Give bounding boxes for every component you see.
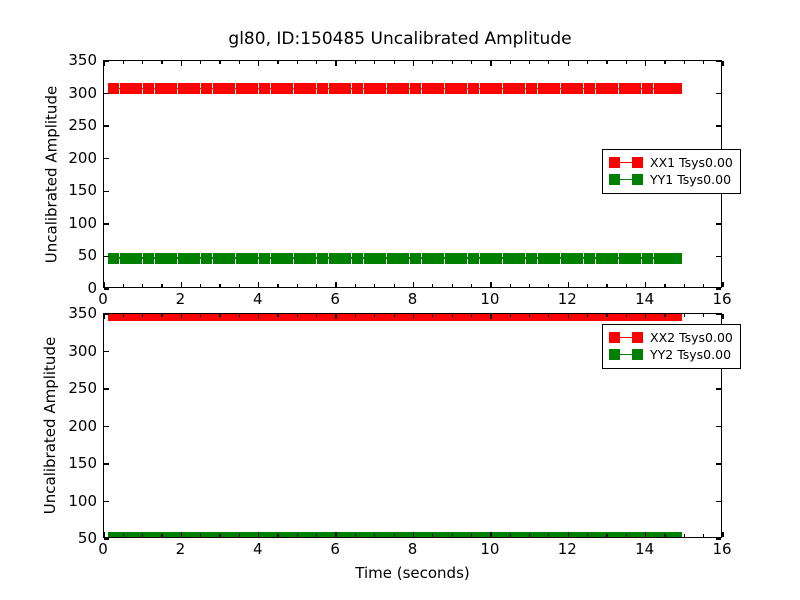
x-tick-mark [413, 61, 414, 66]
x-minor-tick-mark [510, 534, 511, 537]
x-tick-mark [181, 314, 182, 319]
x-minor-tick-mark [703, 314, 704, 317]
series-marker [503, 253, 514, 264]
y-tick-mark [716, 256, 721, 257]
x-minor-tick-mark [316, 284, 317, 287]
series-marker [526, 253, 537, 264]
series-marker [491, 253, 502, 264]
x-tick-label: 2 [160, 292, 200, 307]
x-minor-tick-mark [219, 61, 220, 64]
series-marker [561, 253, 572, 264]
x-minor-tick-mark [355, 314, 356, 317]
y-tick-mark [104, 223, 109, 224]
x-minor-tick-mark [548, 61, 549, 64]
x-minor-tick-mark [355, 284, 356, 287]
x-minor-tick-mark [529, 314, 530, 317]
x-minor-tick-mark [374, 284, 375, 287]
series-marker [445, 83, 456, 94]
y-tick-mark [104, 388, 109, 389]
y-tick-mark [104, 426, 109, 427]
x-tick-mark [413, 282, 414, 287]
x-tick-mark [490, 314, 491, 319]
x-tick-mark [490, 61, 491, 66]
series-marker [642, 83, 653, 94]
series-marker [201, 253, 212, 264]
series-marker [108, 83, 119, 94]
series-marker [410, 253, 421, 264]
series-marker [375, 253, 386, 264]
series-marker [433, 83, 444, 94]
x-tick-label: 12 [547, 542, 587, 557]
series-marker [329, 253, 340, 264]
x-minor-tick-mark [142, 284, 143, 287]
x-minor-tick-mark [548, 314, 549, 317]
y-tick-mark [716, 501, 721, 502]
series-marker [166, 83, 177, 94]
x-minor-tick-mark [316, 534, 317, 537]
x-tick-mark [181, 532, 182, 537]
x-tick-label: 12 [547, 292, 587, 307]
x-minor-tick-mark [452, 314, 453, 317]
x-minor-tick-mark [297, 284, 298, 287]
y-tick-mark [716, 223, 721, 224]
x-minor-tick-mark [239, 314, 240, 317]
x-minor-tick-mark [529, 61, 530, 64]
series-marker [671, 83, 682, 94]
series-marker [596, 83, 607, 94]
x-minor-tick-mark [123, 314, 124, 317]
x-minor-tick-mark [142, 61, 143, 64]
x-minor-tick-mark [297, 61, 298, 64]
series-marker [619, 253, 630, 264]
x-minor-tick-mark [510, 314, 511, 317]
y-tick-mark [716, 125, 721, 126]
x-minor-tick-mark [606, 284, 607, 287]
y-tick-mark [104, 60, 109, 61]
series-marker [294, 253, 305, 264]
series-marker [120, 253, 131, 264]
y-tick-mark [104, 313, 109, 314]
x-minor-tick-mark [374, 61, 375, 64]
x-minor-tick-mark [626, 314, 627, 317]
top-subplot-axes: XX1 Tsys0.00 YY1 Tsys0.00 [103, 60, 722, 288]
x-minor-tick-mark [394, 284, 395, 287]
x-tick-label: 16 [702, 542, 742, 557]
series-marker [131, 83, 142, 94]
x-tick-mark [722, 61, 723, 66]
x-minor-tick-mark [277, 61, 278, 64]
x-minor-tick-mark [626, 284, 627, 287]
legend-swatch-xx1 [609, 156, 643, 169]
x-tick-label: 16 [702, 292, 742, 307]
x-minor-tick-mark [219, 314, 220, 317]
series-marker [236, 83, 247, 94]
x-tick-mark [722, 314, 723, 319]
x-tick-mark [181, 61, 182, 66]
x-tick-mark [258, 314, 259, 319]
x-minor-tick-mark [529, 284, 530, 287]
x-minor-tick-mark [471, 534, 472, 537]
x-minor-tick-mark [123, 61, 124, 64]
series-marker [538, 253, 549, 264]
series-marker [387, 83, 398, 94]
series-marker [630, 83, 641, 94]
series-marker [247, 253, 258, 264]
series-marker [178, 83, 189, 94]
y-tick-mark [716, 313, 721, 314]
x-minor-tick-mark [142, 314, 143, 317]
x-minor-tick-mark [606, 534, 607, 537]
top-y-axis-label: Uncalibrated Amplitude [45, 61, 60, 289]
x-tick-label: 6 [315, 292, 355, 307]
series-marker [607, 253, 618, 264]
x-minor-tick-mark [432, 61, 433, 64]
top-x-tick-labels: 0246810121416 [103, 292, 722, 312]
x-minor-tick-mark [452, 284, 453, 287]
legend-entry: YY1 Tsys0.00 [609, 171, 733, 188]
legend-swatch-yy1 [609, 173, 643, 186]
x-tick-label: 4 [238, 292, 278, 307]
x-minor-tick-mark [394, 61, 395, 64]
x-tick-label: 8 [393, 542, 433, 557]
x-minor-tick-mark [277, 534, 278, 537]
series-marker [561, 83, 572, 94]
x-minor-tick-mark [374, 534, 375, 537]
x-minor-tick-mark [277, 284, 278, 287]
x-minor-tick-mark [200, 314, 201, 317]
legend-entry: YY2 Tsys0.00 [609, 346, 733, 363]
series-marker [143, 253, 154, 264]
series-marker [433, 253, 444, 264]
series-marker [259, 83, 270, 94]
series-marker [572, 83, 583, 94]
legend-entry: XX2 Tsys0.00 [609, 329, 733, 346]
x-tick-mark [722, 532, 723, 537]
x-minor-tick-mark [161, 284, 162, 287]
x-minor-tick-mark [394, 534, 395, 537]
x-minor-tick-mark [606, 314, 607, 317]
series-marker [364, 253, 375, 264]
x-tick-mark [568, 61, 569, 66]
x-minor-tick-mark [529, 534, 530, 537]
series-marker [282, 253, 293, 264]
x-minor-tick-mark [219, 534, 220, 537]
x-minor-tick-mark [394, 314, 395, 317]
x-minor-tick-mark [355, 534, 356, 537]
series-marker [538, 83, 549, 94]
series-marker [213, 83, 224, 94]
x-minor-tick-mark [161, 534, 162, 537]
x-tick-mark [335, 282, 336, 287]
x-minor-tick-mark [664, 314, 665, 317]
x-minor-tick-mark [432, 534, 433, 537]
x-tick-mark [568, 532, 569, 537]
figure-title: gl80, ID:150485 Uncalibrated Amplitude [0, 28, 800, 50]
x-minor-tick-mark [471, 314, 472, 317]
x-minor-tick-mark [277, 314, 278, 317]
series-marker [422, 83, 433, 94]
x-tick-mark [335, 61, 336, 66]
x-tick-mark [258, 282, 259, 287]
x-minor-tick-mark [703, 534, 704, 537]
series-marker [247, 83, 258, 94]
y-tick-mark [104, 256, 109, 257]
x-minor-tick-mark [684, 534, 685, 537]
x-minor-tick-mark [664, 534, 665, 537]
x-minor-tick-mark [626, 534, 627, 537]
x-minor-tick-mark [297, 534, 298, 537]
series-marker [236, 253, 247, 264]
series-marker [584, 83, 595, 94]
series-marker [398, 83, 409, 94]
x-minor-tick-mark [239, 284, 240, 287]
series-marker [271, 83, 282, 94]
series-marker [259, 253, 270, 264]
x-axis-label: Time (seconds) [103, 564, 722, 582]
x-minor-tick-mark [123, 534, 124, 537]
x-minor-tick-mark [355, 61, 356, 64]
series-marker [317, 253, 328, 264]
x-minor-tick-mark [316, 314, 317, 317]
series-marker [491, 83, 502, 94]
legend-label-xx1: XX1 Tsys0.00 [650, 156, 733, 170]
x-minor-tick-mark [684, 61, 685, 64]
x-minor-tick-mark [219, 284, 220, 287]
series-marker [271, 253, 282, 264]
series-marker [671, 532, 682, 537]
y-tick-mark [104, 501, 109, 502]
series-marker [108, 253, 119, 264]
x-minor-tick-mark [200, 534, 201, 537]
x-minor-tick-mark [626, 61, 627, 64]
x-minor-tick-mark [374, 314, 375, 317]
x-tick-mark [413, 314, 414, 319]
series-marker [387, 253, 398, 264]
x-tick-mark [258, 61, 259, 66]
series-marker [642, 253, 653, 264]
x-tick-mark [490, 282, 491, 287]
series-marker [178, 253, 189, 264]
series-marker [352, 83, 363, 94]
y-tick-mark [716, 463, 721, 464]
y-tick-mark [716, 426, 721, 427]
x-tick-mark [645, 314, 646, 319]
x-tick-mark [181, 282, 182, 287]
x-minor-tick-mark [123, 284, 124, 287]
x-tick-label: 10 [470, 292, 510, 307]
series-marker [480, 83, 491, 94]
series-marker [572, 253, 583, 264]
x-minor-tick-mark [664, 284, 665, 287]
series-marker [166, 253, 177, 264]
series-marker [514, 83, 525, 94]
series-marker [410, 83, 421, 94]
legend-swatch-yy2 [609, 348, 643, 361]
x-tick-mark [645, 532, 646, 537]
series-marker [340, 253, 351, 264]
y-tick-mark [716, 60, 721, 61]
x-minor-tick-mark [452, 534, 453, 537]
series-marker [213, 253, 224, 264]
series-marker [398, 253, 409, 264]
series-marker [456, 83, 467, 94]
y-tick-mark [716, 93, 721, 94]
series-marker [671, 253, 682, 264]
x-tick-mark [335, 314, 336, 319]
x-minor-tick-mark [161, 314, 162, 317]
bottom-legend: XX2 Tsys0.00 YY2 Tsys0.00 [602, 324, 741, 369]
x-minor-tick-mark [452, 61, 453, 64]
series-marker [671, 314, 682, 321]
series-marker [131, 253, 142, 264]
x-tick-mark [258, 532, 259, 537]
series-marker [468, 83, 479, 94]
series-marker [305, 83, 316, 94]
x-minor-tick-mark [587, 534, 588, 537]
series-marker [468, 253, 479, 264]
series-marker [340, 83, 351, 94]
series-marker [422, 253, 433, 264]
legend-label-yy1: YY1 Tsys0.00 [650, 173, 731, 187]
series-marker [584, 253, 595, 264]
x-minor-tick-mark [471, 61, 472, 64]
x-minor-tick-mark [510, 284, 511, 287]
series-marker [619, 83, 630, 94]
series-marker [305, 253, 316, 264]
series-marker [329, 83, 340, 94]
x-tick-label: 6 [315, 542, 355, 557]
x-minor-tick-mark [200, 61, 201, 64]
x-minor-tick-mark [161, 61, 162, 64]
series-marker [654, 83, 665, 94]
x-tick-label: 14 [625, 292, 665, 307]
x-tick-label: 2 [160, 542, 200, 557]
legend-entry: XX1 Tsys0.00 [609, 154, 733, 171]
y-tick-mark [716, 388, 721, 389]
y-tick-mark [104, 351, 109, 352]
series-marker [514, 253, 525, 264]
x-tick-mark [103, 532, 104, 537]
series-marker [155, 83, 166, 94]
series-marker [364, 83, 375, 94]
x-minor-tick-mark [587, 284, 588, 287]
y-tick-mark [104, 125, 109, 126]
series-marker [352, 253, 363, 264]
x-minor-tick-mark [684, 284, 685, 287]
x-minor-tick-mark [510, 61, 511, 64]
x-tick-label: 0 [83, 542, 123, 557]
x-minor-tick-mark [297, 314, 298, 317]
y-tick-mark [104, 158, 109, 159]
x-tick-mark [413, 532, 414, 537]
series-marker [294, 83, 305, 94]
series-marker [155, 253, 166, 264]
series-marker [480, 253, 491, 264]
series-marker [201, 83, 212, 94]
x-minor-tick-mark [432, 284, 433, 287]
x-tick-mark [645, 61, 646, 66]
series-marker [120, 83, 131, 94]
x-tick-mark [103, 282, 104, 287]
x-tick-mark [568, 282, 569, 287]
x-tick-label: 4 [238, 542, 278, 557]
series-marker [456, 253, 467, 264]
x-tick-mark [568, 314, 569, 319]
legend-swatch-xx2 [609, 331, 643, 344]
series-marker [189, 83, 200, 94]
legend-label-xx2: XX2 Tsys0.00 [650, 331, 733, 345]
x-minor-tick-mark [548, 284, 549, 287]
x-tick-mark [722, 282, 723, 287]
x-minor-tick-mark [142, 534, 143, 537]
x-minor-tick-mark [239, 61, 240, 64]
matplotlib-figure: gl80, ID:150485 Uncalibrated Amplitude X… [0, 0, 800, 600]
series-marker [630, 253, 641, 264]
series-marker [317, 83, 328, 94]
bottom-y-axis-label: Uncalibrated Amplitude [43, 313, 58, 538]
series-marker [503, 83, 514, 94]
x-minor-tick-mark [703, 284, 704, 287]
series-marker [526, 83, 537, 94]
x-minor-tick-mark [703, 61, 704, 64]
x-minor-tick-mark [239, 534, 240, 537]
x-minor-tick-mark [684, 314, 685, 317]
series-marker [375, 83, 386, 94]
legend-label-yy2: YY2 Tsys0.00 [650, 348, 731, 362]
series-marker [143, 83, 154, 94]
series-marker [445, 253, 456, 264]
y-tick-mark [104, 463, 109, 464]
x-minor-tick-mark [548, 534, 549, 537]
bottom-subplot-axes: XX2 Tsys0.00 YY2 Tsys0.00 [103, 313, 722, 538]
x-minor-tick-mark [316, 61, 317, 64]
x-tick-label: 14 [625, 542, 665, 557]
series-marker [224, 83, 235, 94]
series-marker [282, 83, 293, 94]
top-legend: XX1 Tsys0.00 YY1 Tsys0.00 [602, 149, 741, 194]
x-minor-tick-mark [664, 61, 665, 64]
x-minor-tick-mark [606, 61, 607, 64]
series-marker [549, 83, 560, 94]
x-tick-mark [645, 282, 646, 287]
series-marker [224, 253, 235, 264]
series-marker [654, 253, 665, 264]
y-tick-mark [104, 93, 109, 94]
x-minor-tick-mark [471, 284, 472, 287]
series-marker [189, 253, 200, 264]
series-marker [607, 83, 618, 94]
x-tick-mark [103, 61, 104, 66]
bottom-x-tick-labels: 0246810121416 [103, 542, 722, 562]
x-tick-mark [490, 532, 491, 537]
x-minor-tick-mark [587, 61, 588, 64]
y-tick-mark [104, 191, 109, 192]
series-marker [596, 253, 607, 264]
x-tick-label: 8 [393, 292, 433, 307]
x-tick-label: 10 [470, 542, 510, 557]
series-marker [549, 253, 560, 264]
x-tick-mark [103, 314, 104, 319]
x-minor-tick-mark [587, 314, 588, 317]
x-minor-tick-mark [432, 314, 433, 317]
x-tick-mark [335, 532, 336, 537]
x-minor-tick-mark [200, 284, 201, 287]
